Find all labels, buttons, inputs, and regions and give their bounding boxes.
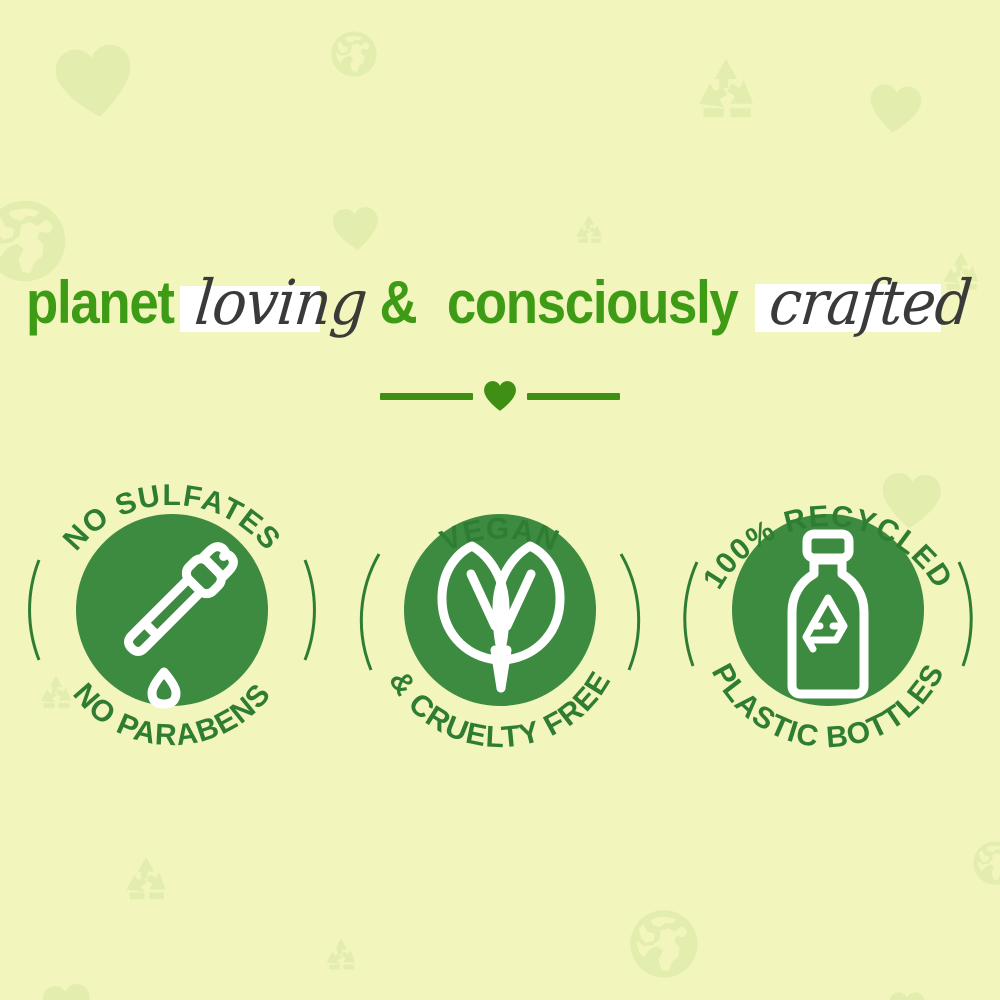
headline-script-loving: loving: [188, 272, 374, 334]
heart-icon: [330, 203, 382, 255]
headline-word-crafted: crafted: [767, 272, 974, 334]
divider-rule-right: [527, 393, 620, 400]
badge-recycled-plastic-bottles[interactable]: 100% RECYCLED PLASTIC BOTTLES: [673, 450, 983, 770]
divider-rule-left: [380, 393, 473, 400]
heart-icon: [865, 79, 924, 138]
recycle-icon: [690, 52, 762, 124]
heart-icon: [888, 990, 926, 1000]
badge-no-sulfates-no-parabens[interactable]: NO SULFATES NO PARABENS: [17, 450, 327, 770]
badge-vegan-cruelty-free[interactable]: VEGAN & CRUELTY FREE: [345, 450, 655, 770]
badge-arc-left: [361, 554, 379, 670]
headline-word-planet: planet: [26, 273, 174, 333]
headline-word-loving: loving: [192, 272, 369, 334]
badge-arc-right: [305, 560, 314, 660]
heart-icon: [50, 37, 140, 127]
badge-arc-right: [959, 562, 971, 666]
badge-arc-right: [621, 554, 639, 670]
globe-icon: [330, 30, 378, 78]
globe-icon: [628, 908, 700, 980]
badge-arc-left: [685, 562, 697, 666]
divider: [0, 376, 1000, 416]
heart-icon: [40, 980, 95, 1000]
headline: planet loving & consciously crafted: [0, 258, 1000, 348]
badge-arc-left: [30, 560, 39, 660]
eco-claims-banner: planet loving & consciously crafted: [0, 0, 1000, 1000]
headline-script-crafted: crafted: [761, 272, 980, 334]
recycle-icon: [572, 212, 606, 246]
recycle-icon: [322, 935, 360, 973]
headline-word-ampersand: &: [380, 273, 417, 333]
heart-icon: [483, 380, 517, 412]
headline-word-consciously: consciously: [447, 273, 738, 333]
recycle-icon: [120, 852, 172, 904]
badge-row: NO SULFATES NO PARABENS: [0, 450, 1000, 770]
globe-icon: [972, 840, 1000, 886]
